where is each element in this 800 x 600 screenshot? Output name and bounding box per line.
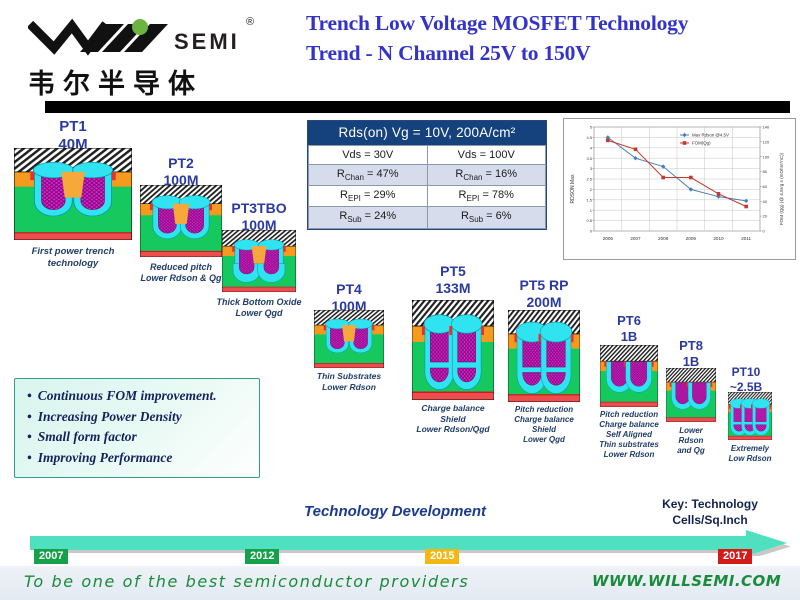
will-semi-logo-icon: SEMI [28, 18, 278, 60]
cell-cross-section-pt8 [666, 368, 716, 422]
svg-text:5: 5 [590, 125, 593, 130]
chart-y2-axis-label: FOM (Qg) (@ 4.5Vg s (mOhm*nC)) [779, 152, 784, 225]
svg-text:0: 0 [763, 229, 766, 234]
caption-line: Shield [498, 425, 590, 435]
caption-line: Low Rdson [714, 454, 786, 464]
timeline-year-2012: 2012 [245, 549, 279, 564]
rdson-table-header: Rds(on) Vg = 10V, 200A/cm² [308, 121, 546, 145]
chart-y-axis-ticks: 00.511.522.533.544.55 [586, 125, 594, 234]
rdson-table: Rds(on) Vg = 10V, 200A/cm² Vds = 30V Vds… [307, 120, 547, 230]
timeline-key-note: Key: Technology Cells/Sq.Inch [630, 496, 790, 528]
svg-text:2007: 2007 [630, 236, 641, 241]
caption-line: Thick Bottom Oxide [212, 297, 306, 308]
caption-line: Lower Rdson & Qg [130, 273, 232, 284]
page-title: Trench Low Voltage MOSFET Technology Tre… [306, 8, 794, 68]
caption-line: First power trench [4, 246, 142, 258]
svg-text:2006: 2006 [603, 236, 614, 241]
caption-line: Lower Qgd [498, 435, 590, 445]
caption-line: Charge balance [498, 415, 590, 425]
rchan-30v: RChan = 47% [309, 165, 428, 186]
cell-caption-pt4: Thin SubstratesLower Rdson [304, 371, 394, 392]
svg-text:Max Rdson @4.5V: Max Rdson @4.5V [692, 133, 729, 138]
cell-caption-pt5: Charge balanceShieldLower Rdson/Qgd [402, 403, 504, 435]
cell-cross-section-pt1 [14, 148, 132, 240]
chart-gridlines [594, 127, 760, 231]
table-col-header-30v: Vds = 30V [309, 146, 428, 165]
chart-x-axis-ticks: 200620072008200920102011 [603, 236, 752, 241]
cell-caption-pt2: Reduced pitchLower Rdson & Qg [130, 262, 232, 285]
svg-text:0.5: 0.5 [586, 218, 592, 223]
logo-wordmark: SEMI ® [28, 18, 278, 58]
cell-caption-pt10: ExtremelyLow Rdson [714, 444, 786, 464]
timeline-year-2017: 2017 [718, 549, 752, 564]
title-line-1: Trench Low Voltage MOSFET Technology [306, 8, 794, 38]
svg-text:4.5: 4.5 [586, 135, 592, 140]
cell-cross-section-pt2 [140, 185, 222, 257]
logo-chinese-name: 韦尔半导体 [28, 62, 288, 101]
svg-text:3: 3 [590, 166, 593, 171]
company-logo: SEMI ® 韦尔半导体 [28, 18, 288, 98]
svg-text:100: 100 [763, 154, 770, 159]
cell-name: PT5 [412, 263, 494, 280]
svg-text:2008: 2008 [658, 236, 669, 241]
caption-line: Lower [656, 426, 726, 436]
table-row: REPI = 29% REPI = 78% [309, 186, 546, 207]
svg-text:3.5: 3.5 [586, 156, 592, 161]
svg-text:4: 4 [590, 145, 593, 150]
cell-cross-section-pt4 [314, 310, 384, 368]
benefits-callout-box: Continuous FOM improvement.Increasing Po… [14, 378, 260, 478]
cell-density: 133M [412, 280, 494, 297]
cell-name: PT5 RP [508, 277, 580, 294]
caption-line: Reduced pitch [130, 262, 232, 273]
svg-text:0: 0 [590, 229, 593, 234]
benefit-item: Small form factor [27, 427, 249, 448]
cell-cross-section-pt5 [412, 300, 494, 400]
cell-cross-section-pt3 [222, 230, 296, 292]
caption-line: technology [4, 258, 142, 270]
cell-name: PT6 [600, 313, 658, 329]
cell-label-pt10: PT10~2.5B [724, 365, 768, 394]
cell-label-pt5: PT5133M [412, 263, 494, 297]
svg-text:SEMI: SEMI [174, 29, 240, 54]
chart-canvas: 00.511.522.533.544.55 020406080100120140… [564, 119, 793, 257]
svg-text:2: 2 [590, 187, 593, 192]
svg-text:20: 20 [763, 214, 768, 219]
timeline-arrow-icon [30, 530, 790, 556]
repi-100v: REPI = 78% [427, 186, 546, 207]
caption-line: Lower Rdson/Qgd [402, 424, 504, 435]
rsub-30v: RSub = 24% [309, 207, 428, 228]
table-col-header-100v: Vds = 100V [427, 146, 546, 165]
caption-line: Thin Substrates [304, 371, 394, 382]
cell-name: PT8 [666, 338, 716, 354]
caption-line: Pitch reduction [590, 410, 668, 420]
cell-label-pt5rp: PT5 RP200M [508, 277, 580, 311]
svg-text:80: 80 [763, 169, 768, 174]
cell-cross-section-pt10 [728, 392, 772, 440]
chart-y2-axis-ticks: 020406080100120140 [760, 125, 770, 234]
title-line-2: Trend - N Channel 25V to 150V [306, 38, 794, 68]
registered-trademark-icon: ® [246, 16, 254, 28]
timeline-year-2007: 2007 [34, 549, 68, 564]
svg-text:1: 1 [590, 208, 593, 213]
cell-caption-pt3: Thick Bottom OxideLower Qgd [212, 297, 306, 320]
cell-density: 200M [508, 294, 580, 311]
benefit-item: Increasing Power Density [27, 407, 249, 428]
timeline-year-2015: 2015 [425, 549, 459, 564]
svg-text:FOM(Qg): FOM(Qg) [692, 141, 711, 146]
svg-text:60: 60 [763, 184, 768, 189]
cell-name: PT3TBO [222, 200, 296, 217]
cell-label-pt6: PT61B [600, 313, 658, 345]
benefit-item: Continuous FOM improvement. [27, 386, 249, 407]
svg-text:40: 40 [763, 199, 768, 204]
rchan-100v: RChan = 16% [427, 165, 546, 186]
cell-name: PT10 [724, 365, 768, 380]
cell-caption-pt1: First power trenchtechnology [4, 246, 142, 270]
rdson-fom-trend-chart: 00.511.522.533.544.55 020406080100120140… [563, 118, 796, 260]
svg-text:120: 120 [763, 139, 770, 144]
cell-name: PT2 [140, 155, 222, 172]
cell-name: PT4 [314, 281, 384, 298]
table-row: RSub = 24% RSub = 6% [309, 207, 546, 228]
cell-caption-pt5rp: Pitch reductionCharge balanceShieldLower… [498, 405, 590, 445]
key-note-line-2: Cells/Sq.Inch [630, 512, 790, 528]
caption-line: Shield [402, 414, 504, 425]
key-note-line-1: Key: Technology [630, 496, 790, 512]
svg-text:2009: 2009 [686, 236, 697, 241]
caption-line: Charge balance [402, 403, 504, 414]
svg-text:140: 140 [763, 125, 770, 130]
chart-y-axis-label: RDSON Max [570, 174, 576, 203]
benefits-list: Continuous FOM improvement.Increasing Po… [27, 386, 249, 468]
caption-line: Pitch reduction [498, 405, 590, 415]
svg-text:2011: 2011 [741, 236, 751, 241]
rsub-100v: RSub = 6% [427, 207, 546, 228]
footer-slogan: To be one of the best semiconductor prov… [24, 572, 469, 591]
svg-text:1.5: 1.5 [586, 197, 592, 202]
table-row: Vds = 30V Vds = 100V [309, 146, 546, 165]
timeline-title: Technology Development [255, 503, 535, 520]
cell-density: 1B [600, 329, 658, 345]
svg-text:2010: 2010 [713, 236, 724, 241]
repi-30v: REPI = 29% [309, 186, 428, 207]
cell-label-pt8: PT81B [666, 338, 716, 370]
caption-line: Lower Qgd [212, 308, 306, 319]
cell-cross-section-pt6 [600, 345, 658, 407]
svg-text:2.5: 2.5 [586, 177, 592, 182]
caption-line: Lower Rdson [304, 382, 394, 393]
caption-line: Extremely [714, 444, 786, 454]
footer-url: WWW.WILLSEMI.COM [592, 572, 781, 590]
table-row: RChan = 47% RChan = 16% [309, 165, 546, 186]
cell-cross-section-pt5rp [508, 310, 580, 402]
benefit-item: Improving Performance [27, 448, 249, 469]
header-divider-bar [45, 101, 790, 113]
cell-name: PT1 [14, 118, 132, 136]
